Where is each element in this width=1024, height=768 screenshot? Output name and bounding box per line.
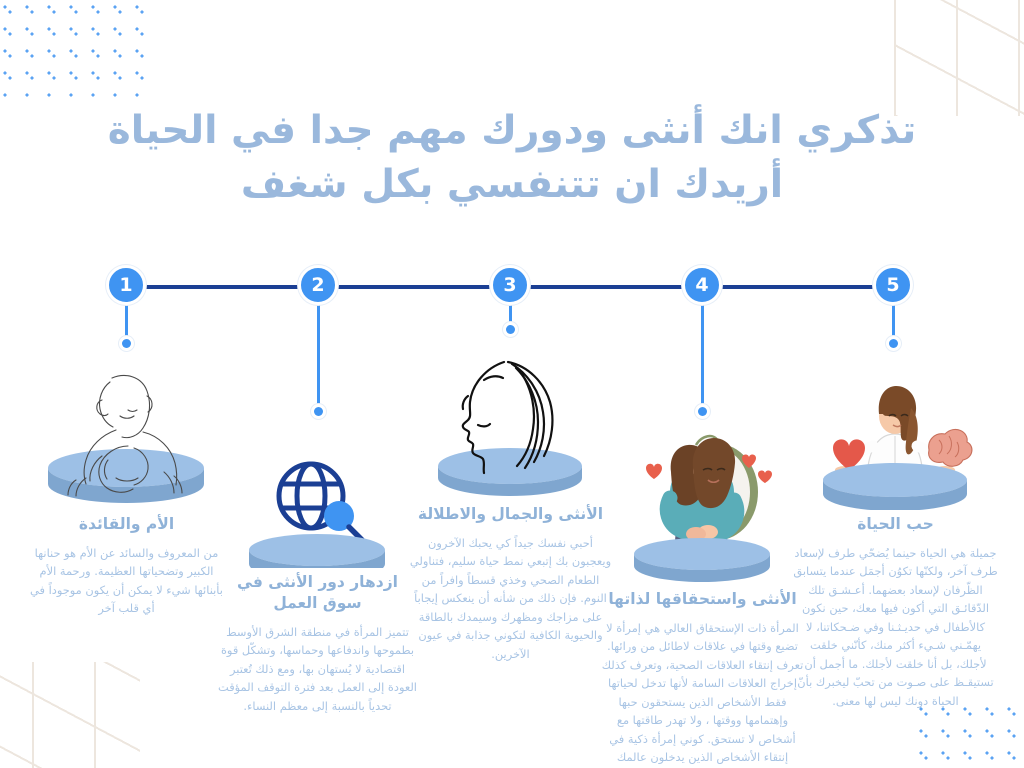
step-3-title: الأنثى والجمال والاطلالة xyxy=(408,504,613,525)
step-3-illustration xyxy=(408,348,613,500)
step-4-body: المرأة ذات الإستحقاق العالي هي إمرأة لا … xyxy=(600,619,805,767)
timeline-node-4-number: 4 xyxy=(695,274,708,296)
timeline-node-3-number: 3 xyxy=(503,274,516,296)
step-card-3: الأنثى والجمال والاطلالة أحبي نفسك جيداً… xyxy=(408,348,613,663)
timeline-node-2-number: 2 xyxy=(311,274,324,296)
mother-and-child-line-art-icon xyxy=(24,360,229,510)
step-2-body: تتميز المرأة في منطقة الشرق الأوسط بطموح… xyxy=(215,623,420,715)
step-card-4: الأنثى واستحقاقها لذاتها المرأة ذات الإس… xyxy=(600,420,805,767)
step-5-title: حب الحياة xyxy=(793,514,998,535)
step-card-2: ازدهار دور الأنثى في سوق العمل تتميز الم… xyxy=(215,450,420,715)
page-title: تذكري انك أنثى ودورك مهم جدا في الحياة أ… xyxy=(60,104,964,212)
infographic-canvas: تذكري انك أنثى ودورك مهم جدا في الحياة أ… xyxy=(0,0,1024,768)
woman-face-profile-icon xyxy=(408,348,613,500)
headline-line-2: أريدك ان تتنفسي بكل شغف xyxy=(60,158,964,212)
timeline-stem-4 xyxy=(701,305,704,411)
step-card-1: الأم والقائدة من المعروف والسائد عن الأم… xyxy=(24,360,229,618)
lattice-decoration-top-right xyxy=(894,0,1024,116)
step-4-illustration xyxy=(600,420,805,585)
timeline-node-2[interactable]: 2 xyxy=(298,265,338,305)
timeline-node-1[interactable]: 1 xyxy=(106,265,146,305)
woman-self-hug-mirror-icon xyxy=(600,420,805,585)
step-4-title: الأنثى واستحقاقها لذاتها xyxy=(600,589,805,610)
step-1-illustration xyxy=(24,360,229,510)
step-card-5: حب الحياة جميلة هي الحياة حينما يُضحّي ط… xyxy=(793,378,998,710)
dot-grid-decoration-top-left xyxy=(0,0,144,98)
timeline-stem-1 xyxy=(125,305,128,343)
step-2-illustration xyxy=(215,450,420,568)
timeline-stem-3 xyxy=(509,305,512,329)
step-1-title: الأم والقائدة xyxy=(24,514,229,535)
step-1-body: من المعروف والسائد عن الأم هو حنانها الك… xyxy=(24,544,229,618)
timeline-node-1-number: 1 xyxy=(119,274,132,296)
headline-line-1: تذكري انك أنثى ودورك مهم جدا في الحياة xyxy=(60,104,964,158)
step-5-illustration xyxy=(793,378,998,510)
timeline-node-5[interactable]: 5 xyxy=(873,265,913,305)
step-2-title: ازدهار دور الأنثى في سوق العمل xyxy=(215,572,420,614)
step-3-body: أحبي نفسك جيداً كي يحبك الآخرون ويعجبون … xyxy=(408,534,613,663)
timeline-stem-5 xyxy=(892,305,895,343)
timeline-node-4[interactable]: 4 xyxy=(682,265,722,305)
timeline-node-5-number: 5 xyxy=(886,274,899,296)
globe-magnifier-icon xyxy=(215,450,420,568)
woman-heart-brain-balance-icon xyxy=(793,378,998,510)
timeline-stem-2 xyxy=(317,305,320,411)
lattice-decoration-bottom-left xyxy=(0,662,140,768)
timeline-node-3[interactable]: 3 xyxy=(490,265,530,305)
step-5-body: جميلة هي الحياة حينما يُضحّي طرف لإسعاد … xyxy=(793,544,998,710)
